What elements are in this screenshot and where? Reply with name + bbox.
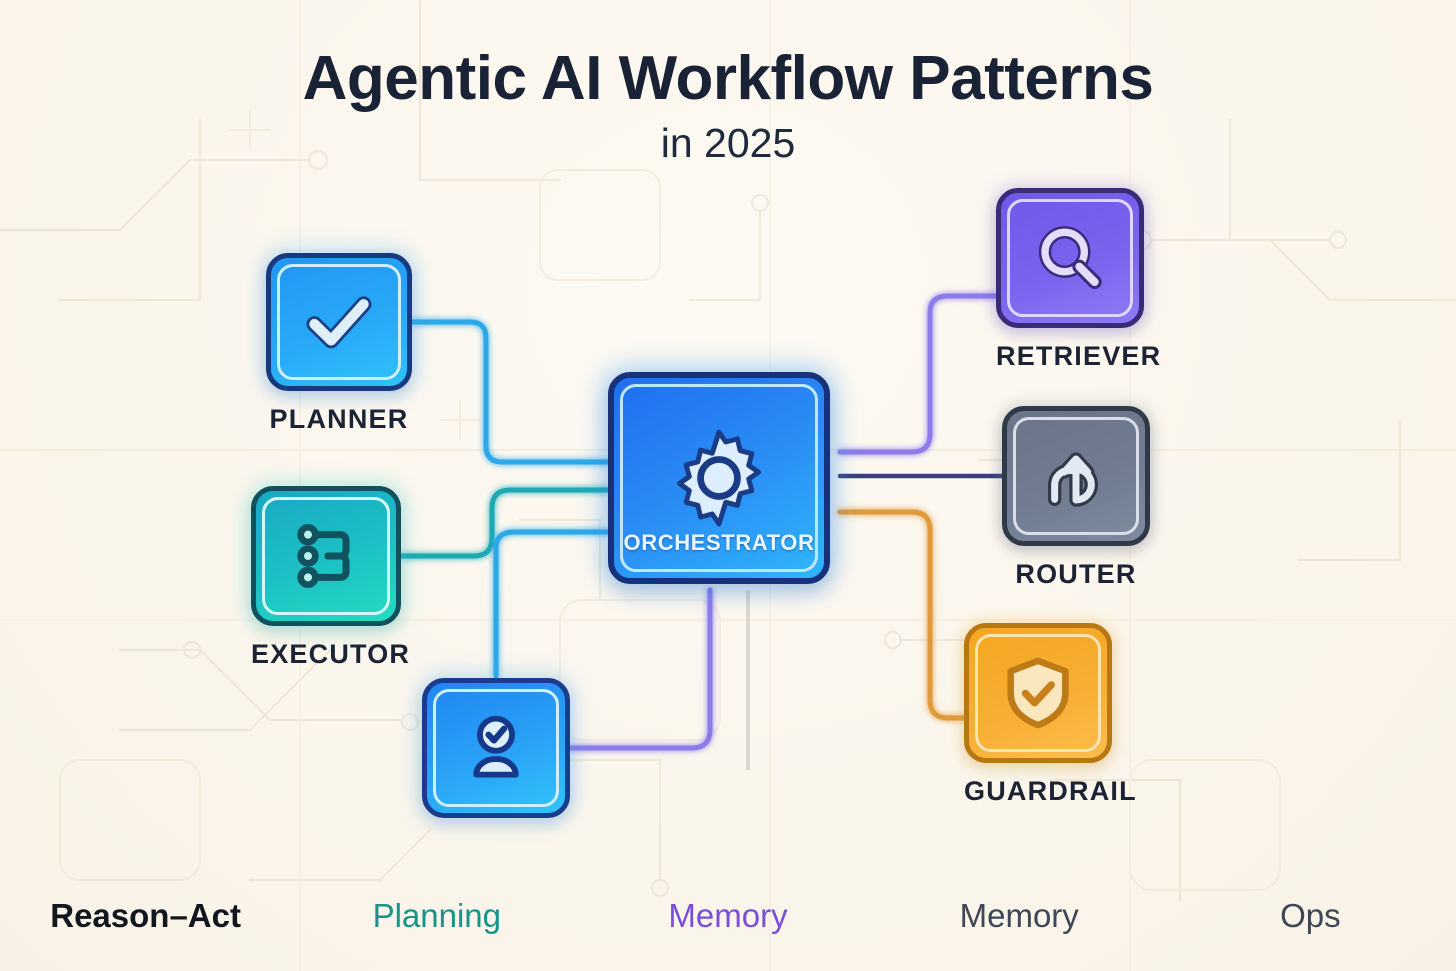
planner-label: PLANNER (266, 404, 412, 435)
wire-planner-orchestrator (412, 322, 608, 462)
executor-box[interactable] (251, 486, 401, 626)
orchestrator-label: ORCHESTRATOR (614, 530, 824, 556)
legend-item-planning: Planning (291, 897, 582, 935)
node-memory-agent[interactable] (422, 678, 570, 818)
legend-item-reason-act: Reason–Act (0, 897, 291, 935)
legend-item-memory-1: Memory (582, 897, 873, 935)
branch-arrow-icon (1036, 436, 1116, 516)
wire-orchestrator-guardrail (840, 512, 964, 718)
diagram-canvas: Agentic AI Workflow Patterns in 2025 ORC… (0, 0, 1456, 971)
wire-memoryagent-orchestrator-top (496, 532, 608, 676)
title-block: Agentic AI Workflow Patterns in 2025 (0, 46, 1456, 170)
legend-item-ops: Ops (1165, 897, 1456, 935)
legend-row: Reason–Act Planning Memory Memory Ops (0, 897, 1456, 935)
wire-executor-orchestrator (401, 490, 608, 556)
check-icon (298, 281, 380, 363)
shield-check-icon (997, 652, 1079, 734)
page-subtitle: in 2025 (0, 117, 1456, 170)
gear-icon (665, 424, 773, 532)
legend-item-memory-2: Memory (874, 897, 1165, 935)
router-box[interactable] (1002, 406, 1150, 546)
retriever-label: RETRIEVER (996, 341, 1161, 372)
node-orchestrator[interactable]: ORCHESTRATOR (608, 372, 830, 584)
node-guardrail[interactable]: GUARDRAIL (964, 623, 1137, 807)
guardrail-label: GUARDRAIL (964, 776, 1137, 807)
node-executor[interactable]: EXECUTOR (251, 486, 410, 670)
node-router[interactable]: ROUTER (1002, 406, 1150, 590)
wire-orchestrator-retriever (840, 296, 996, 452)
retriever-box[interactable] (996, 188, 1144, 328)
guardrail-box[interactable] (964, 623, 1112, 763)
node-planner[interactable]: PLANNER (266, 253, 412, 435)
memory-agent-box[interactable] (422, 678, 570, 818)
orchestrator-box[interactable]: ORCHESTRATOR (608, 372, 830, 584)
wire-memoryagent-orchestrator-purple (570, 590, 710, 748)
planner-box[interactable] (266, 253, 412, 391)
page-title: Agentic AI Workflow Patterns (0, 46, 1456, 111)
branch-list-icon (286, 516, 366, 596)
executor-label: EXECUTOR (251, 639, 410, 670)
node-retriever[interactable]: RETRIEVER (996, 188, 1161, 372)
router-label: ROUTER (1002, 559, 1150, 590)
magnifier-icon (1030, 218, 1110, 298)
user-check-icon (455, 707, 537, 789)
